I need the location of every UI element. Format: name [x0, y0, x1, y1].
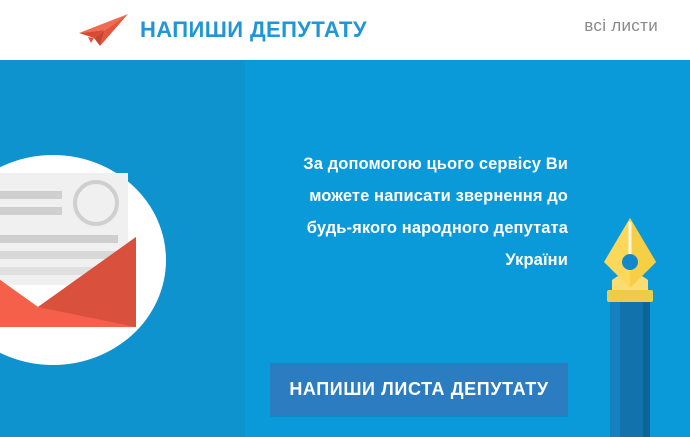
brand-title: НАПИШИ ДЕПУТАТУ: [140, 19, 367, 41]
hero-description: За допомогою цього сервісу Ви можете нап…: [268, 148, 568, 276]
paper-plane-icon: [78, 13, 130, 47]
fountain-pen-nib-icon: [598, 200, 660, 437]
pen-illustration: [598, 200, 660, 437]
brand-logo[interactable]: НАПИШИ ДЕПУТАТУ: [78, 8, 367, 52]
envelope-illustration: [0, 155, 166, 365]
page-root: НАПИШИ ДЕПУТАТУ всі листи: [0, 0, 690, 437]
hero-section: За допомогою цього сервісу Ви можете нап…: [0, 60, 690, 437]
envelope-with-letter-icon: [0, 155, 166, 365]
write-letter-button[interactable]: НАПИШИ ЛИСТА ДЕПУТАТУ: [270, 363, 568, 416]
nav-link-all-letters[interactable]: всі листи: [584, 17, 658, 34]
site-header: НАПИШИ ДЕПУТАТУ всі листи: [0, 0, 690, 60]
